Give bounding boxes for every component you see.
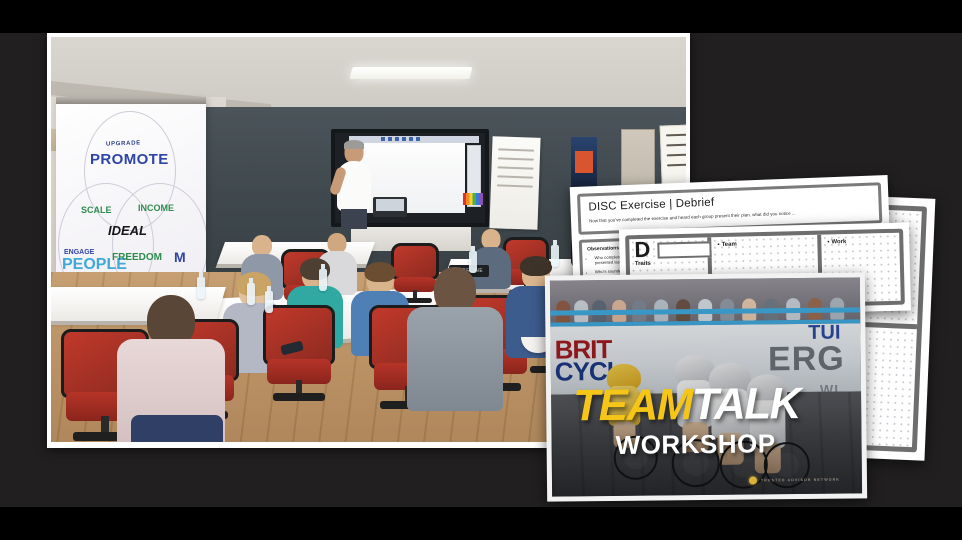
water-bottle xyxy=(265,291,273,313)
screenshot-stage: UPGRADE PROMOTE SCALE INCOME IDEAL ENGAG… xyxy=(0,0,962,540)
teamtalk-workshop-poster: BRIT CYCL TUI ERG WI TEAMTALK WORKSHOP T… xyxy=(545,272,867,501)
water-bottle xyxy=(319,269,327,291)
wall-poster xyxy=(571,137,597,189)
disc-name-input[interactable] xyxy=(657,241,711,258)
presenter xyxy=(337,141,371,227)
venn-label-ideal: IDEAL xyxy=(108,223,147,238)
traits-label: Traits xyxy=(635,261,651,267)
poster-title-team: TEAM xyxy=(573,380,692,430)
chair xyxy=(263,305,335,401)
water-bottle xyxy=(551,245,559,267)
poster-artwork: BRIT CYCL TUI ERG WI TEAMTALK WORKSHOP T… xyxy=(550,277,862,496)
team-label-text: Team xyxy=(721,242,736,248)
water-bottle xyxy=(469,251,477,273)
logo-text: TRUSTED ADVISOR NETWORK xyxy=(761,478,840,483)
whiteboard-color-palette xyxy=(463,193,483,205)
ceiling-light-panel xyxy=(350,67,473,79)
work-label-text: Work xyxy=(831,239,846,245)
work-label: ▪Work xyxy=(827,239,846,245)
whiteboard-toolbar-icons xyxy=(381,137,420,141)
flipchart-left xyxy=(489,136,540,230)
venn-label-m: M xyxy=(174,249,186,265)
poster-subtitle: WORKSHOP xyxy=(615,428,775,461)
bullet-icon: ▪ xyxy=(717,242,719,248)
water-bottle xyxy=(197,277,205,299)
attendee-foreground xyxy=(407,267,503,407)
poster-title: TEAMTALK xyxy=(573,381,862,428)
bullet-icon: ▪ xyxy=(827,239,829,245)
logo-mark-icon xyxy=(749,476,757,484)
letterbox-bottom xyxy=(0,507,962,540)
venn-label-upgrade: UPGRADE xyxy=(106,140,141,147)
poster-logo: TRUSTED ADVISOR NETWORK xyxy=(749,476,840,485)
poster-title-talk: TALK xyxy=(692,379,801,429)
letterbox-top xyxy=(0,0,962,33)
flipchart-lines xyxy=(497,148,535,194)
disc-letter: D xyxy=(634,239,650,261)
venn-label-engage: ENGAGE xyxy=(64,249,94,256)
venn-label-scale: SCALE xyxy=(81,205,112,215)
venn-label-promote: PROMOTE xyxy=(90,151,169,168)
presenter-laptop xyxy=(373,197,407,217)
water-bottle xyxy=(247,283,255,305)
team-label: ▪Team xyxy=(717,242,737,248)
venn-label-freedom: FREEDOM xyxy=(112,252,162,263)
venn-label-income: INCOME xyxy=(138,203,174,213)
attendee-foreground xyxy=(117,295,225,442)
